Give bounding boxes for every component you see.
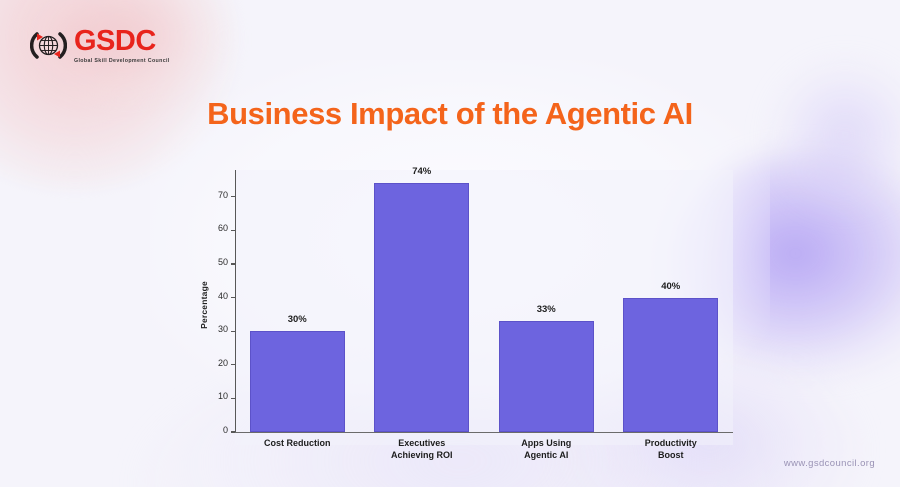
category-label-line: Cost Reduction <box>235 438 360 450</box>
bar-column[interactable]: 33% <box>499 170 594 432</box>
bar[interactable] <box>250 331 345 432</box>
y-axis-tick-label: 30 <box>218 325 228 334</box>
footer-website-url: www.gsdcouncil.org <box>784 458 875 469</box>
category-label-line: Agentic AI <box>484 450 609 462</box>
bar-column[interactable]: 40% <box>623 170 718 432</box>
y-axis-title: Percentage <box>199 281 209 329</box>
bar[interactable] <box>374 183 469 432</box>
x-axis-category-label: Cost Reduction <box>235 438 360 450</box>
bar[interactable] <box>623 298 718 432</box>
globe-arc-icon <box>30 27 67 64</box>
category-label-line: Boost <box>609 450 734 462</box>
x-axis-spine <box>235 432 733 433</box>
category-label-line: Productivity <box>609 438 734 450</box>
bar-column[interactable]: 74% <box>374 170 469 432</box>
x-axis-category-label: ExecutivesAchieving ROI <box>360 438 485 462</box>
page-title: Business Impact of the Agentic AI <box>0 96 900 132</box>
y-axis-tick-label: 50 <box>218 258 228 267</box>
bar-value-label: 40% <box>623 281 718 292</box>
logo-wordmark: GSDC <box>74 27 170 56</box>
y-axis-tick-label: 20 <box>218 359 228 368</box>
x-axis-category-label: ProductivityBoost <box>609 438 734 462</box>
x-axis-category-label: Apps UsingAgentic AI <box>484 438 609 462</box>
bar-chart: Percentage 010203040506070 30%74%33%40% … <box>196 160 741 450</box>
category-label-line: Executives <box>360 438 485 450</box>
brand-logo: GSDC Global Skill Development Council <box>30 27 170 64</box>
bar-value-label: 33% <box>499 304 594 315</box>
category-label-line: Achieving ROI <box>360 450 485 462</box>
y-axis-tick-label: 60 <box>218 224 228 233</box>
y-axis-tick-label: 70 <box>218 191 228 200</box>
y-axis-tick-label: 0 <box>223 426 228 435</box>
bar-column[interactable]: 30% <box>250 170 345 432</box>
bar[interactable] <box>499 321 594 432</box>
slide-canvas: GSDC Global Skill Development Council Bu… <box>0 0 900 487</box>
logo-text-block: GSDC Global Skill Development Council <box>74 27 170 64</box>
bar-value-label: 74% <box>374 166 469 177</box>
y-axis-tick-label: 40 <box>218 292 228 301</box>
bar-value-label: 30% <box>250 314 345 325</box>
purple-blob-top-right <box>770 60 900 210</box>
y-axis-tick-label: 10 <box>218 392 228 401</box>
bar-series: 30%74%33%40% <box>235 170 733 432</box>
logo-tagline: Global Skill Development Council <box>74 59 170 64</box>
category-label-line: Apps Using <box>484 438 609 450</box>
